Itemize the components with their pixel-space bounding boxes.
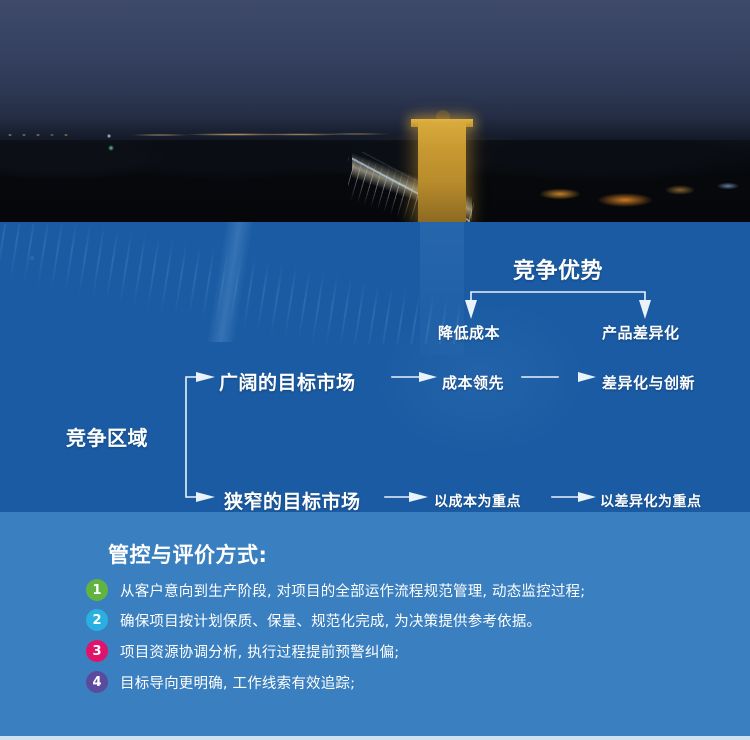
matrix-cell-1-1: 成本领先 [442,372,504,393]
arrow-row1-2 [578,372,596,382]
note-item-1: 1 从客户意向到生产阶段, 对项目的全部运作流程规范管理, 动态监控过程; [86,579,585,601]
note-badge-4: 4 [86,671,108,693]
page-root: 竞争优势 竞争区域 降低成本 产品差异化 广阔的目标市场 成本领先 差异化与创新… [0,0,750,740]
note-text-1: 从客户意向到生产阶段, 对项目的全部运作流程规范管理, 动态监控过程; [120,580,585,601]
notes-title: 管控与评价方式: [108,539,267,569]
bottom-edge-strip [0,736,750,740]
note-text-3: 项目资源协调分析, 执行过程提前预警纠偏; [120,641,399,662]
scope-header: 竞争区域 [66,422,148,451]
note-item-4: 4 目标导向更明确, 工作线索有效追踪; [86,671,355,693]
note-text-4: 目标导向更明确, 工作线索有效追踪; [120,672,355,693]
arrow-row2-2 [578,492,596,502]
advantage-column-1: 降低成本 [438,322,500,343]
matrix-row-2-scope: 狭窄的目标市场 [224,487,361,514]
arrow-down-differentiation [639,300,651,319]
advantage-column-2: 产品差异化 [602,322,680,343]
matrix-cell-2-2: 以差异化为重点 [600,491,702,511]
arrow-right-broad [196,372,215,382]
advantage-bracket [471,292,645,300]
arrow-down-lowcost [465,300,477,319]
advantage-header: 竞争优势 [513,253,603,285]
matrix-cell-1-2: 差异化与创新 [602,372,695,393]
arrow-right-narrow [196,492,215,502]
note-item-3: 3 项目资源协调分析, 执行过程提前预警纠偏; [86,640,399,662]
arrow-row1-1 [419,372,437,382]
scope-bracket [186,377,196,497]
note-badge-3: 3 [86,640,108,662]
arrow-row2-1 [409,492,428,502]
matrix-row-1-scope: 广阔的目标市场 [219,368,356,395]
note-badge-1: 1 [86,579,108,601]
note-item-2: 2 确保项目按计划保质、保量、规范化完成, 为决策提供参考依据。 [86,609,541,631]
note-text-2: 确保项目按计划保质、保量、规范化完成, 为决策提供参考依据。 [120,610,541,631]
note-badge-2: 2 [86,609,108,631]
matrix-cell-2-1: 以成本为重点 [434,491,521,511]
